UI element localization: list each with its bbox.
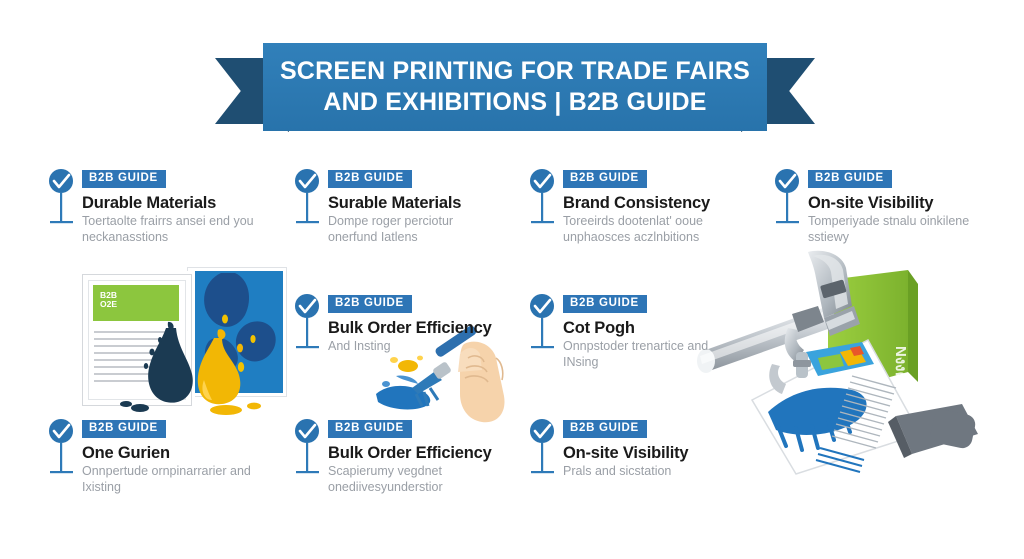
feature-title: On-site Visibility bbox=[808, 194, 985, 213]
feature-title: Cot Pogh bbox=[563, 319, 740, 338]
feature-title: Durable Materials bbox=[82, 194, 259, 213]
feature-text-group: B2B GUIDE Cot Pogh Onnpstoder trenartice… bbox=[563, 293, 740, 371]
page-title: SCREEN PRINTING FOR TRADE FAIRS AND EXHI… bbox=[266, 56, 764, 119]
feature-description: Scapierumy vegdnet onediivesyunderstior bbox=[328, 464, 505, 495]
feature-description: Tomperiyade stnalu oinkilene sstiewy bbox=[808, 214, 985, 245]
feature-text-group: B2B GUIDE Bulk Order Efficiency Scapieru… bbox=[328, 418, 505, 496]
feature-description: Onnpstoder trenartice and INsing bbox=[563, 339, 740, 370]
b2b-guide-badge: B2B GUIDE bbox=[563, 295, 647, 313]
check-pin-icon bbox=[525, 418, 565, 480]
feature-title: On-site Visibility bbox=[563, 444, 740, 463]
b2b-guide-badge: B2B GUIDE bbox=[563, 420, 647, 438]
check-pin-icon bbox=[44, 418, 84, 480]
feature-block-on-site-visibility-top[interactable]: B2B GUIDE On-site Visibility Tomperiyade… bbox=[770, 168, 985, 246]
infographic-canvas: SCREEN PRINTING FOR TRADE FAIRS AND EXHI… bbox=[0, 0, 1024, 559]
feature-description: Toertaolte frairrs ansei end you neckana… bbox=[82, 214, 259, 245]
feature-block-bulk-order-efficiency-mid[interactable]: B2B GUIDE Bulk Order Efficiency And Inst… bbox=[290, 293, 505, 355]
feature-text-group: B2B GUIDE Durable Materials Toertaolte f… bbox=[82, 168, 259, 246]
title-ribbon: SCREEN PRINTING FOR TRADE FAIRS AND EXHI… bbox=[215, 40, 815, 140]
b2b-guide-badge: B2B GUIDE bbox=[82, 420, 166, 438]
check-pin-icon bbox=[525, 168, 565, 230]
document-ink-illustration: B2BO2E bbox=[78, 268, 278, 418]
feature-description: Onnpertude ornpinarrarier and Ixisting bbox=[82, 464, 259, 495]
feature-title: Bulk Order Efficiency bbox=[328, 444, 505, 463]
b2b-guide-badge: B2B GUIDE bbox=[563, 170, 647, 188]
feature-block-surable-materials[interactable]: B2B GUIDE Surable Materials Dompe roger … bbox=[290, 168, 505, 246]
document-header-band: B2BO2E bbox=[93, 285, 179, 321]
ribbon-banner-body: SCREEN PRINTING FOR TRADE FAIRS AND EXHI… bbox=[263, 43, 767, 131]
feature-block-cot-pogh[interactable]: B2B GUIDE Cot Pogh Onnpstoder trenartice… bbox=[525, 293, 740, 371]
feature-description: Prals and sicstation bbox=[563, 464, 740, 480]
feature-description: Dompe roger perciotur onerfund Iatlens bbox=[328, 214, 505, 245]
document-header-label: B2BO2E bbox=[100, 291, 117, 310]
feature-block-bulk-order-efficiency-bottom[interactable]: B2B GUIDE Bulk Order Efficiency Scapieru… bbox=[290, 418, 505, 496]
b2b-guide-badge: B2B GUIDE bbox=[328, 295, 412, 313]
b2b-guide-badge: B2B GUIDE bbox=[328, 420, 412, 438]
ink-splash-art bbox=[118, 320, 278, 418]
feature-block-brand-consistency[interactable]: B2B GUIDE Brand Consistency Toreeirds do… bbox=[525, 168, 740, 246]
feature-block-one-gurien[interactable]: B2B GUIDE One Gurien Onnpertude ornpinar… bbox=[44, 418, 259, 496]
feature-text-group: B2B GUIDE On-site Visibility Tomperiyade… bbox=[808, 168, 985, 246]
check-pin-icon bbox=[290, 168, 330, 230]
feature-title: Brand Consistency bbox=[563, 194, 740, 213]
b2b-guide-badge: B2B GUIDE bbox=[328, 170, 412, 188]
title-line-1: SCREEN PRINTING FOR TRADE FAIRS bbox=[280, 56, 750, 87]
feature-text-group: B2B GUIDE On-site Visibility Prals and s… bbox=[563, 418, 740, 480]
press-illustration: Nงงค bbox=[700, 248, 1022, 480]
feature-title: Bulk Order Efficiency bbox=[328, 319, 505, 338]
press-machine-art: Nงงค bbox=[700, 248, 1022, 480]
title-line-2: AND EXHIBITIONS | B2B GUIDE bbox=[280, 87, 750, 118]
b2b-guide-badge: B2B GUIDE bbox=[82, 170, 166, 188]
feature-description: Toreeirds dootenlat' ooue unphaosces acz… bbox=[563, 214, 740, 245]
feature-text-group: B2B GUIDE One Gurien Onnpertude ornpinar… bbox=[82, 418, 259, 496]
check-pin-icon bbox=[44, 168, 84, 230]
check-pin-icon bbox=[290, 293, 330, 355]
feature-text-group: B2B GUIDE Bulk Order Efficiency And Inst… bbox=[328, 293, 505, 355]
check-pin-icon bbox=[290, 418, 330, 480]
feature-text-group: B2B GUIDE Brand Consistency Toreeirds do… bbox=[563, 168, 740, 246]
check-pin-icon bbox=[525, 293, 565, 355]
b2b-guide-badge: B2B GUIDE bbox=[808, 170, 892, 188]
feature-title: Surable Materials bbox=[328, 194, 505, 213]
feature-text-group: B2B GUIDE Surable Materials Dompe roger … bbox=[328, 168, 505, 246]
feature-title: One Gurien bbox=[82, 444, 259, 463]
check-pin-icon bbox=[770, 168, 810, 230]
feature-block-durable-materials[interactable]: B2B GUIDE Durable Materials Toertaolte f… bbox=[44, 168, 259, 246]
green-box-label: Nงงค bbox=[892, 346, 909, 382]
feature-block-on-site-visibility-bottom[interactable]: B2B GUIDE On-site Visibility Prals and s… bbox=[525, 418, 740, 480]
feature-description: And Insting bbox=[328, 339, 505, 355]
